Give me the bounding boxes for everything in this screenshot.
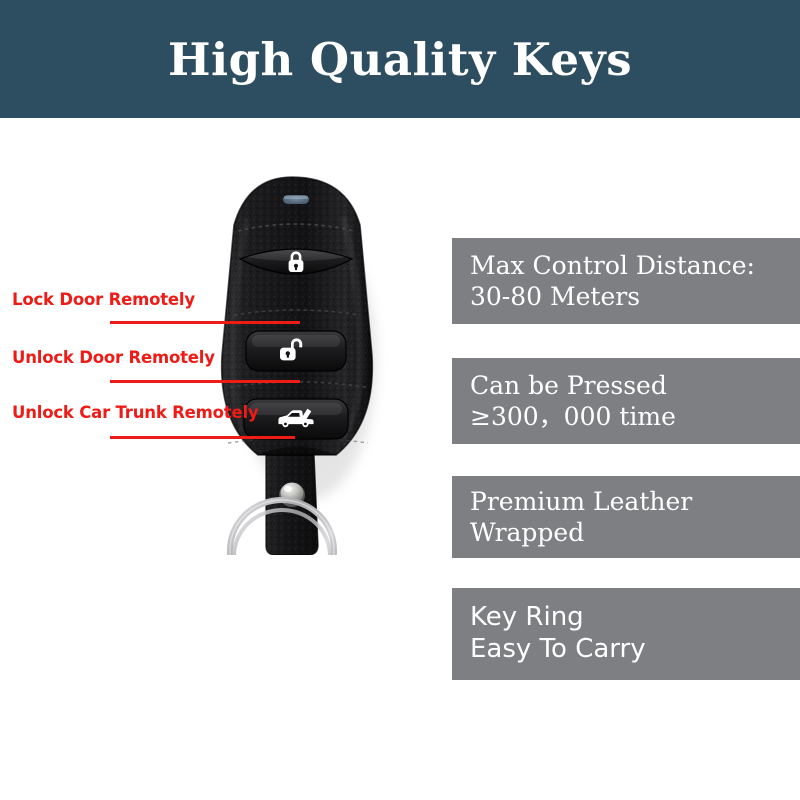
feature-box-press-count: Can be Pressed≥300，000 time [452, 358, 800, 444]
trunk-button [244, 399, 348, 439]
feature-text-line: Wrapped [470, 517, 800, 548]
page-title: High Quality Keys [168, 33, 632, 86]
feature-box-max-control-distance: Max Control Distance:30-80 Meters [452, 238, 800, 324]
annotation-label-2: Unlock Car Trunk Remotely [12, 403, 258, 422]
feature-box-premium-leather: Premium LeatherWrapped [452, 476, 800, 558]
annotation-leader-line-0 [110, 321, 300, 324]
feature-text-line: Key Ring [470, 602, 800, 634]
feature-text-line: Max Control Distance: [470, 250, 800, 281]
feature-box-key-ring-easy-carry: Key RingEasy To Carry [452, 588, 800, 680]
feature-text-line: Can be Pressed [470, 370, 800, 401]
feature-text-line: 30-80 Meters [470, 281, 800, 312]
annotation-label-0: Lock Door Remotely [12, 290, 195, 309]
unlock-button [246, 331, 346, 371]
feature-text-line: Easy To Carry [470, 634, 800, 666]
product-image-key-fob [196, 155, 396, 555]
annotation-leader-line-2 [110, 436, 295, 439]
feature-text-line: ≥300，000 time [470, 401, 800, 432]
feature-text-line: Premium Leather [470, 486, 800, 517]
header-banner: High Quality Keys [0, 0, 800, 118]
annotation-label-1: Unlock Door Remotely [12, 348, 215, 367]
annotation-leader-line-1 [110, 380, 300, 383]
main-content [0, 118, 800, 800]
